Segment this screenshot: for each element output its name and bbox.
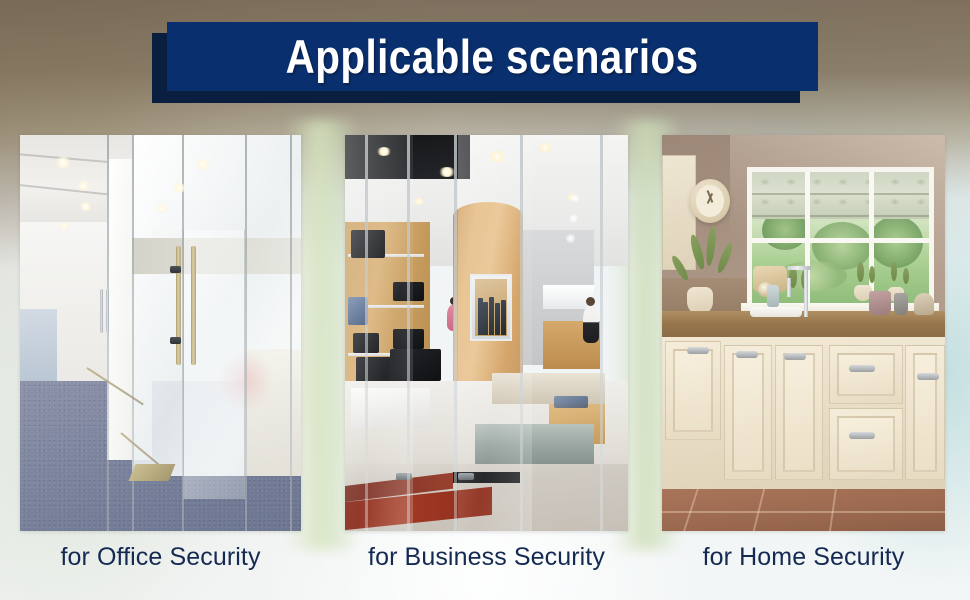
drawer-handle <box>849 432 875 439</box>
home-photo <box>662 135 945 531</box>
office-downlight <box>172 183 187 193</box>
kitchen-drawer-panel <box>837 353 895 396</box>
kitchen-faucet-drop <box>787 278 791 298</box>
office-downlight <box>194 159 211 170</box>
kitchen-ornament <box>914 293 934 315</box>
tile-grout-line <box>662 511 945 513</box>
office-photo <box>20 135 301 531</box>
kitchen-sill-plant <box>869 266 875 283</box>
window-roman-blind <box>752 172 929 219</box>
kitchen-cabinet-door <box>775 345 823 480</box>
store-glass-reflection <box>345 135 413 531</box>
blind-pattern <box>752 172 929 219</box>
kitchen-drawer <box>829 345 903 404</box>
title-banner-plate: Applicable scenarios <box>167 22 818 91</box>
caption-office: for Office Security <box>20 535 301 579</box>
kitchen-cabinet-door <box>724 345 772 480</box>
wall-clock-icon <box>690 179 730 223</box>
blind-fold <box>752 193 929 195</box>
office-floor-plate <box>129 464 176 481</box>
scenario-card-row <box>0 135 970 535</box>
office-downlight <box>76 181 91 191</box>
store-glass-mullion <box>520 135 523 531</box>
scenario-card-office <box>20 135 301 531</box>
kitchen-jar <box>869 291 891 315</box>
kitchen-jar <box>894 293 908 315</box>
store-shopper-head <box>586 297 595 306</box>
store-glass-mullion <box>407 135 410 531</box>
kitchen-cabinet-door <box>665 341 722 440</box>
cabinet-handle <box>687 347 709 354</box>
office-glass-mullion <box>245 135 247 531</box>
drawer-handle <box>849 365 875 372</box>
office-door-handle-bar <box>191 246 196 365</box>
store-glass-mullion <box>365 135 368 531</box>
kitchen-sink <box>750 307 802 317</box>
kitchen-cabinet-panel <box>913 353 937 472</box>
window-transom <box>752 238 929 243</box>
page-title: Applicable scenarios <box>286 33 699 80</box>
business-photo <box>345 135 628 531</box>
store-glass-mullion <box>454 135 457 531</box>
blind-fold <box>752 215 929 217</box>
store-glass-mullion <box>600 135 603 531</box>
store-ceiling-spot <box>376 147 392 156</box>
office-far-door-handle <box>100 289 103 333</box>
office-far-door-handle <box>106 289 109 333</box>
store-pendant-light <box>566 234 575 243</box>
kitchen-drawer <box>829 408 903 479</box>
store-folded-goods <box>554 396 588 408</box>
office-glass-mullion <box>290 135 292 531</box>
kitchen-upper-cabinet <box>662 155 696 270</box>
kitchen-drawer-panel <box>837 416 895 471</box>
store-ceiling-spot <box>487 151 507 162</box>
scenario-card-home <box>662 135 945 531</box>
title-banner: Applicable scenarios <box>0 0 970 120</box>
kitchen-sill-plant <box>903 268 909 284</box>
kitchen-cabinet-panel <box>783 353 815 472</box>
kitchen-cabinet-panel <box>732 353 764 472</box>
kitchen-faucet-stem <box>804 266 808 317</box>
cabinet-handle <box>736 351 758 358</box>
scenario-card-business <box>345 135 628 531</box>
kitchen-cabinet-door <box>905 345 945 480</box>
kitchen-cabinet-panel <box>673 349 714 432</box>
cabinet-handle <box>917 373 939 380</box>
office-door-handle-mount <box>170 266 181 273</box>
office-door-handle-bar <box>176 246 181 365</box>
kitchen-soap-dispenser <box>767 285 779 307</box>
caption-row: for Office Security for Business Securit… <box>0 535 970 595</box>
office-glass-mullion <box>107 135 109 531</box>
caption-business: for Business Security <box>345 535 628 579</box>
office-downlight <box>54 157 72 168</box>
cabinet-handle <box>784 353 806 360</box>
office-door-handle-mount <box>170 337 181 344</box>
promo-banner-page: Applicable scenarios <box>0 0 970 600</box>
store-ceiling-spot <box>438 167 456 177</box>
kitchen-faucet-spout <box>787 266 811 270</box>
store-pendant-light <box>569 214 578 223</box>
caption-home: for Home Security <box>662 535 945 579</box>
office-glass-mullion <box>182 135 184 531</box>
store-shopper <box>583 305 599 343</box>
